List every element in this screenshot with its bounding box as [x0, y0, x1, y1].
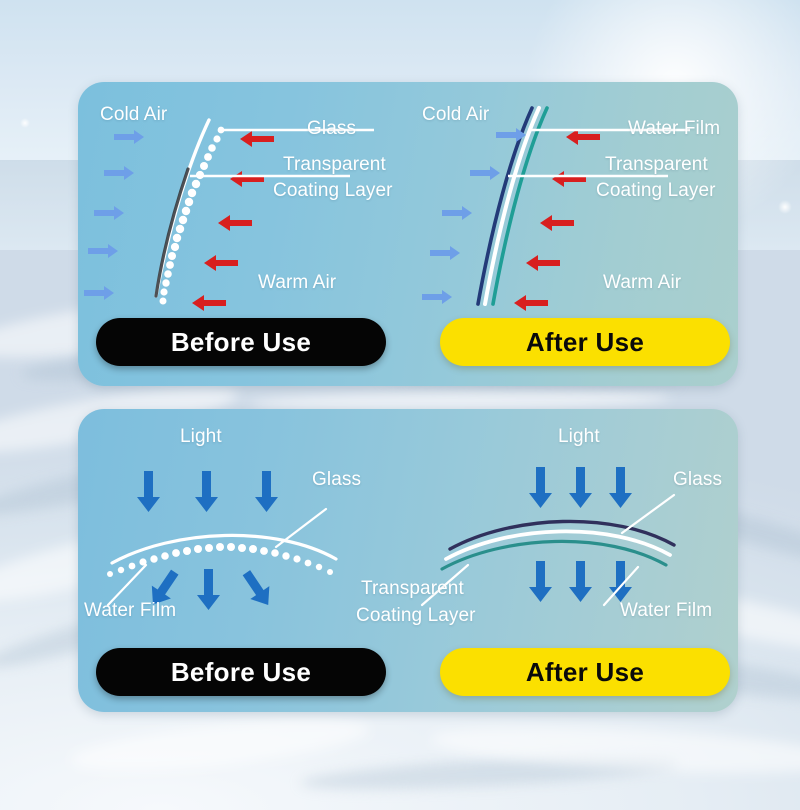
cell-optical-after: Light Glass Transparent Coating Layer Wa… [408, 409, 738, 712]
lens-flare-5 [20, 118, 30, 128]
pill-before-use-optical[interactable]: Before Use [96, 648, 386, 696]
label-light: Light [180, 426, 222, 448]
label-water-film: Water Film [84, 600, 176, 622]
pill-after-use-optical[interactable]: After Use [440, 648, 730, 696]
incoming-light-arrow-group [529, 467, 632, 508]
label-cold-air: Cold Air [100, 104, 167, 126]
label-coating-line2: Coating Layer [356, 605, 476, 627]
label-light: Light [558, 426, 600, 448]
label-coating-line1: Transparent [283, 154, 386, 176]
cold-air-arrow-group [84, 130, 144, 300]
label-glass: Glass [307, 118, 356, 140]
fog-droplet-group [160, 127, 225, 305]
label-glass: Glass [673, 469, 722, 491]
incoming-light-arrow-group [137, 471, 278, 512]
label-coating-line1: Transparent [361, 578, 464, 600]
glass-leader-line [622, 495, 674, 533]
label-water-film: Water Film [628, 118, 720, 140]
lens-flare-6 [778, 200, 792, 214]
glass-leader-line [276, 509, 326, 547]
cell-optical-before: Light Glass Water Film Before Use [78, 409, 408, 712]
cell-thermal-before: Cold Air Glass Transparent Coating Layer… [78, 82, 408, 386]
cell-thermal-after: Cold Air Water Film Transparent Coating … [408, 82, 738, 386]
outgoing-light-arrow-group [529, 561, 632, 602]
glass-curve-dark [156, 169, 188, 296]
label-glass: Glass [312, 469, 361, 491]
label-cold-air: Cold Air [422, 104, 489, 126]
panel-optical-comparison: Light Glass Water Film Before Use [78, 409, 738, 712]
panel-thermal-comparison: Cold Air Glass Transparent Coating Layer… [78, 82, 738, 386]
water-film-leader-line [108, 565, 146, 605]
pill-after-use-thermal[interactable]: After Use [440, 318, 730, 366]
label-warm-air: Warm Air [258, 272, 336, 294]
label-warm-air: Warm Air [603, 272, 681, 294]
label-coating-line2: Coating Layer [596, 180, 716, 202]
glass-curve-white [156, 120, 209, 296]
pill-before-use-thermal[interactable]: Before Use [96, 318, 386, 366]
glass-arc [112, 535, 336, 563]
label-coating-line2: Coating Layer [273, 180, 393, 202]
label-coating-line1: Transparent [605, 154, 708, 176]
label-water-film: Water Film [620, 600, 712, 622]
